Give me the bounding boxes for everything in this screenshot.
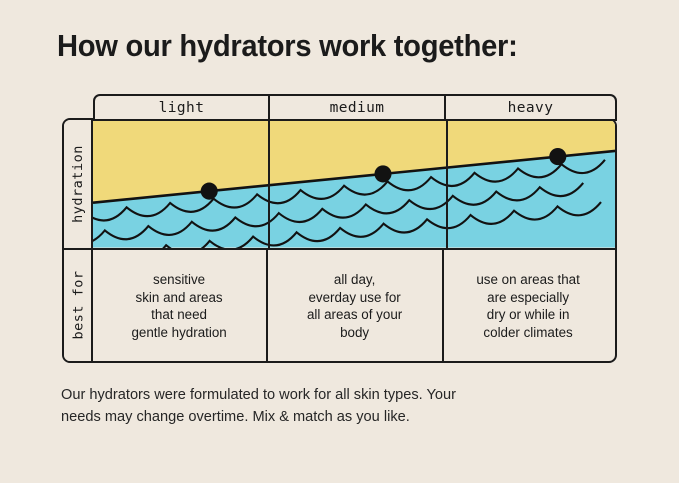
column-header-heavy: heavy <box>446 96 615 119</box>
hydration-bestfor-divider <box>93 248 615 250</box>
best-for-cell-light: sensitive skin and areas that need gentl… <box>93 250 268 363</box>
hydration-chart-grid: hydration best for <box>62 118 617 363</box>
column-separator-1 <box>268 120 270 248</box>
hydration-area-chart <box>93 120 615 248</box>
column-separator-2 <box>446 120 448 248</box>
best-for-text-heavy: use on areas that are especially dry or … <box>476 271 579 342</box>
infographic-page: How our hydrators work together: light m… <box>0 0 679 483</box>
row-label-hydration-text: hydration <box>70 145 86 223</box>
row-label-divider <box>64 248 93 250</box>
row-label-best-for-text: best for <box>70 270 86 339</box>
data-point-light <box>200 183 217 200</box>
table-header-row: light medium heavy <box>93 94 617 121</box>
row-label-hydration: hydration <box>64 120 93 248</box>
data-point-medium <box>374 165 391 182</box>
grid-content: sensitive skin and areas that need gentl… <box>93 120 615 361</box>
best-for-cell-medium: all day, everday use for all areas of yo… <box>268 250 444 363</box>
best-for-cell-heavy: use on areas that are especially dry or … <box>444 250 613 363</box>
page-title: How our hydrators work together: <box>57 28 517 64</box>
best-for-text-medium: all day, everday use for all areas of yo… <box>307 271 402 342</box>
column-header-light: light <box>95 96 270 119</box>
column-header-medium: medium <box>270 96 446 119</box>
hydration-wave-row <box>93 120 615 248</box>
row-label-column: hydration best for <box>64 120 93 361</box>
row-label-best-for: best for <box>64 248 93 363</box>
data-point-heavy <box>549 148 566 165</box>
footer-note: Our hydrators were formulated to work fo… <box>61 385 481 429</box>
best-for-text-light: sensitive skin and areas that need gentl… <box>131 271 226 342</box>
best-for-row: sensitive skin and areas that need gentl… <box>93 250 615 363</box>
